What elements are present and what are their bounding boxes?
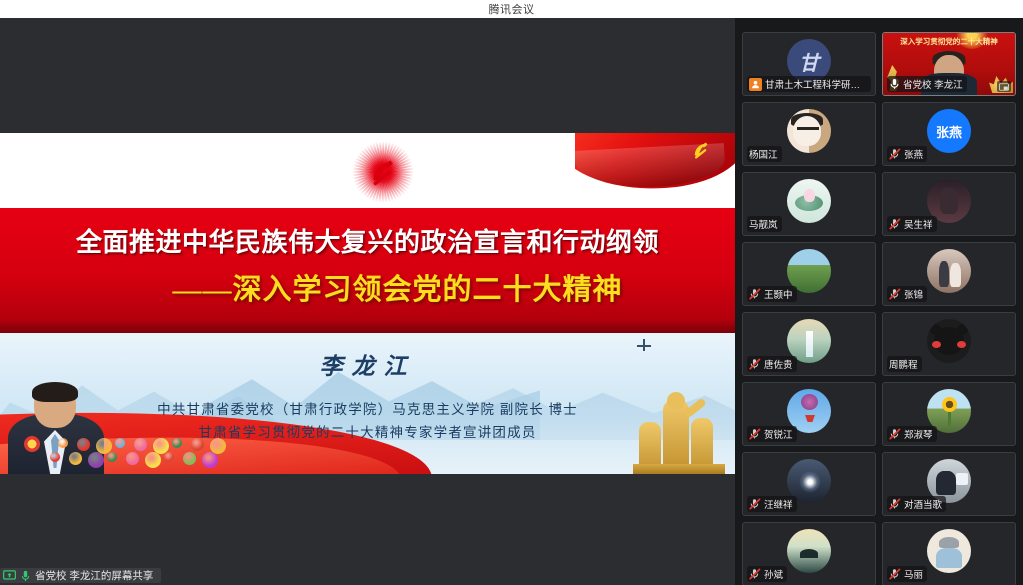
participant-tile[interactable]: 郑淑琴 <box>882 382 1016 446</box>
participant-tile[interactable]: 唐佐贵 <box>742 312 876 376</box>
participant-name: 孙斌 <box>764 567 783 581</box>
participant-label: 马丽 <box>887 566 927 582</box>
slide-affiliation-line2: 甘肃省学习贯彻党的二十大精神专家学者宣讲团成员 <box>0 421 735 441</box>
microphone-icon <box>21 570 30 582</box>
participant-tile[interactable]: 孙斌 <box>742 522 876 585</box>
participant-label: 贺锐江 <box>747 426 797 442</box>
screen-share-status-bar[interactable]: 省党校 李龙江的屏幕共享 <box>0 568 161 583</box>
microphone-muted-icon <box>889 428 901 440</box>
participant-label: 杨国江 <box>747 146 782 162</box>
picture-in-picture-icon[interactable] <box>997 81 1011 92</box>
host-person-icon <box>749 78 762 91</box>
participant-name: 郑淑琴 <box>904 427 933 441</box>
participant-name: 贺锐江 <box>764 427 793 441</box>
participant-tile[interactable]: 张锦 <box>882 242 1016 306</box>
participant-tile[interactable]: 贺锐江 <box>742 382 876 446</box>
participant-label: 张锦 <box>887 286 927 302</box>
participant-name: 周鹏程 <box>889 357 918 371</box>
participant-name: 唐佐贵 <box>764 357 793 371</box>
microphone-muted-icon <box>749 358 761 370</box>
meeting-window: 腾讯会议 <box>0 0 1023 585</box>
slide-speaker-name: 李龙江 <box>0 347 735 381</box>
participant-tile[interactable]: 甘甘肃土木工程科学研究院... <box>742 32 876 96</box>
avatar <box>927 249 971 293</box>
participant-label: 对酒当歌 <box>887 496 946 512</box>
microphone-muted-icon <box>749 498 761 510</box>
participant-label: 甘肃土木工程科学研究院... <box>747 76 871 92</box>
app-title: 腾讯会议 <box>489 1 535 17</box>
slide-subtitle: ——深入学习领会党的二十大精神 <box>0 266 735 308</box>
participant-grid[interactable]: 甘甘肃土木工程科学研究院...深入学习贯彻党的二十大精神省党校 李龙江杨国江张燕… <box>735 18 1023 585</box>
participant-label: 王颢中 <box>747 286 797 302</box>
participant-tile[interactable]: 对酒当歌 <box>882 452 1016 516</box>
participant-tile[interactable]: 杨国江 <box>742 102 876 166</box>
participant-name: 张锦 <box>904 287 923 301</box>
avatar <box>927 529 971 573</box>
hammer-sickle-glyph <box>366 155 400 189</box>
participant-name: 张燕 <box>904 147 923 161</box>
microphone-muted-icon <box>749 568 761 580</box>
avatar: 张燕 <box>927 109 971 153</box>
microphone-muted-icon <box>749 428 761 440</box>
participant-label: 汪继祥 <box>747 496 797 512</box>
participant-label: 周鹏程 <box>887 356 922 372</box>
participant-tile[interactable]: 深入学习贯彻党的二十大精神省党校 李龙江 <box>882 32 1016 96</box>
participant-label: 省党校 李龙江 <box>887 76 967 92</box>
microphone-muted-icon <box>889 568 901 580</box>
slide-affiliation-line1: 中共甘肃省委党校（甘肃行政学院）马克思主义学院 副院长 博士 <box>0 398 735 418</box>
participant-name: 对酒当歌 <box>904 497 942 511</box>
participant-tile[interactable]: 张燕张燕 <box>882 102 1016 166</box>
window-title-bar: 腾讯会议 <box>0 0 1023 18</box>
shared-screen-stage[interactable]: 全面推进中华民族伟大复兴的政治宣言和行动纲领 ——深入学习领会党的二十大精神 <box>0 18 735 585</box>
participant-label: 吴生祥 <box>887 216 937 232</box>
participant-name: 马靓岚 <box>749 217 778 231</box>
participant-name: 汪继祥 <box>764 497 793 511</box>
participant-tile[interactable]: 吴生祥 <box>882 172 1016 236</box>
participant-tile[interactable]: 汪继祥 <box>742 452 876 516</box>
hammer-and-sickle-icon <box>330 139 436 205</box>
participant-tile[interactable]: 王颢中 <box>742 242 876 306</box>
participant-tile[interactable]: 周鹏程 <box>882 312 1016 376</box>
participant-tile[interactable]: 马丽 <box>882 522 1016 585</box>
participant-label: 唐佐贵 <box>747 356 797 372</box>
party-flag-icon <box>575 133 735 195</box>
participant-name: 甘肃土木工程科学研究院... <box>765 77 867 91</box>
participant-name: 杨国江 <box>749 147 778 161</box>
avatar <box>787 179 831 223</box>
avatar <box>927 319 971 363</box>
flag-emblem-glyph <box>689 139 713 161</box>
avatar <box>787 109 831 153</box>
microphone-muted-icon <box>749 288 761 300</box>
participant-label: 孙斌 <box>747 566 787 582</box>
microphone-muted-icon <box>889 498 901 510</box>
slide-title: 全面推进中华民族伟大复兴的政治宣言和行动纲领 <box>0 222 735 259</box>
microphone-muted-icon <box>889 148 901 160</box>
participant-label: 郑淑琴 <box>887 426 937 442</box>
microphone-muted-icon <box>889 288 901 300</box>
participant-name: 王颢中 <box>764 287 793 301</box>
microphone-muted-icon <box>889 218 901 230</box>
participant-name: 吴生祥 <box>904 217 933 231</box>
screen-share-status-text: 省党校 李龙江的屏幕共享 <box>35 568 153 583</box>
video-banner-text: 深入学习贯彻党的二十大精神 <box>887 36 1011 47</box>
microphone-active-icon <box>889 78 900 90</box>
participant-name: 省党校 李龙江 <box>903 77 963 91</box>
participant-name: 马丽 <box>904 567 923 581</box>
participant-label: 马靓岚 <box>747 216 782 232</box>
presentation-slide: 全面推进中华民族伟大复兴的政治宣言和行动纲领 ——深入学习领会党的二十大精神 <box>0 133 735 474</box>
participant-tile[interactable]: 马靓岚 <box>742 172 876 236</box>
participant-label: 张燕 <box>887 146 927 162</box>
avatar <box>787 529 831 573</box>
screen-share-icon <box>3 570 16 581</box>
